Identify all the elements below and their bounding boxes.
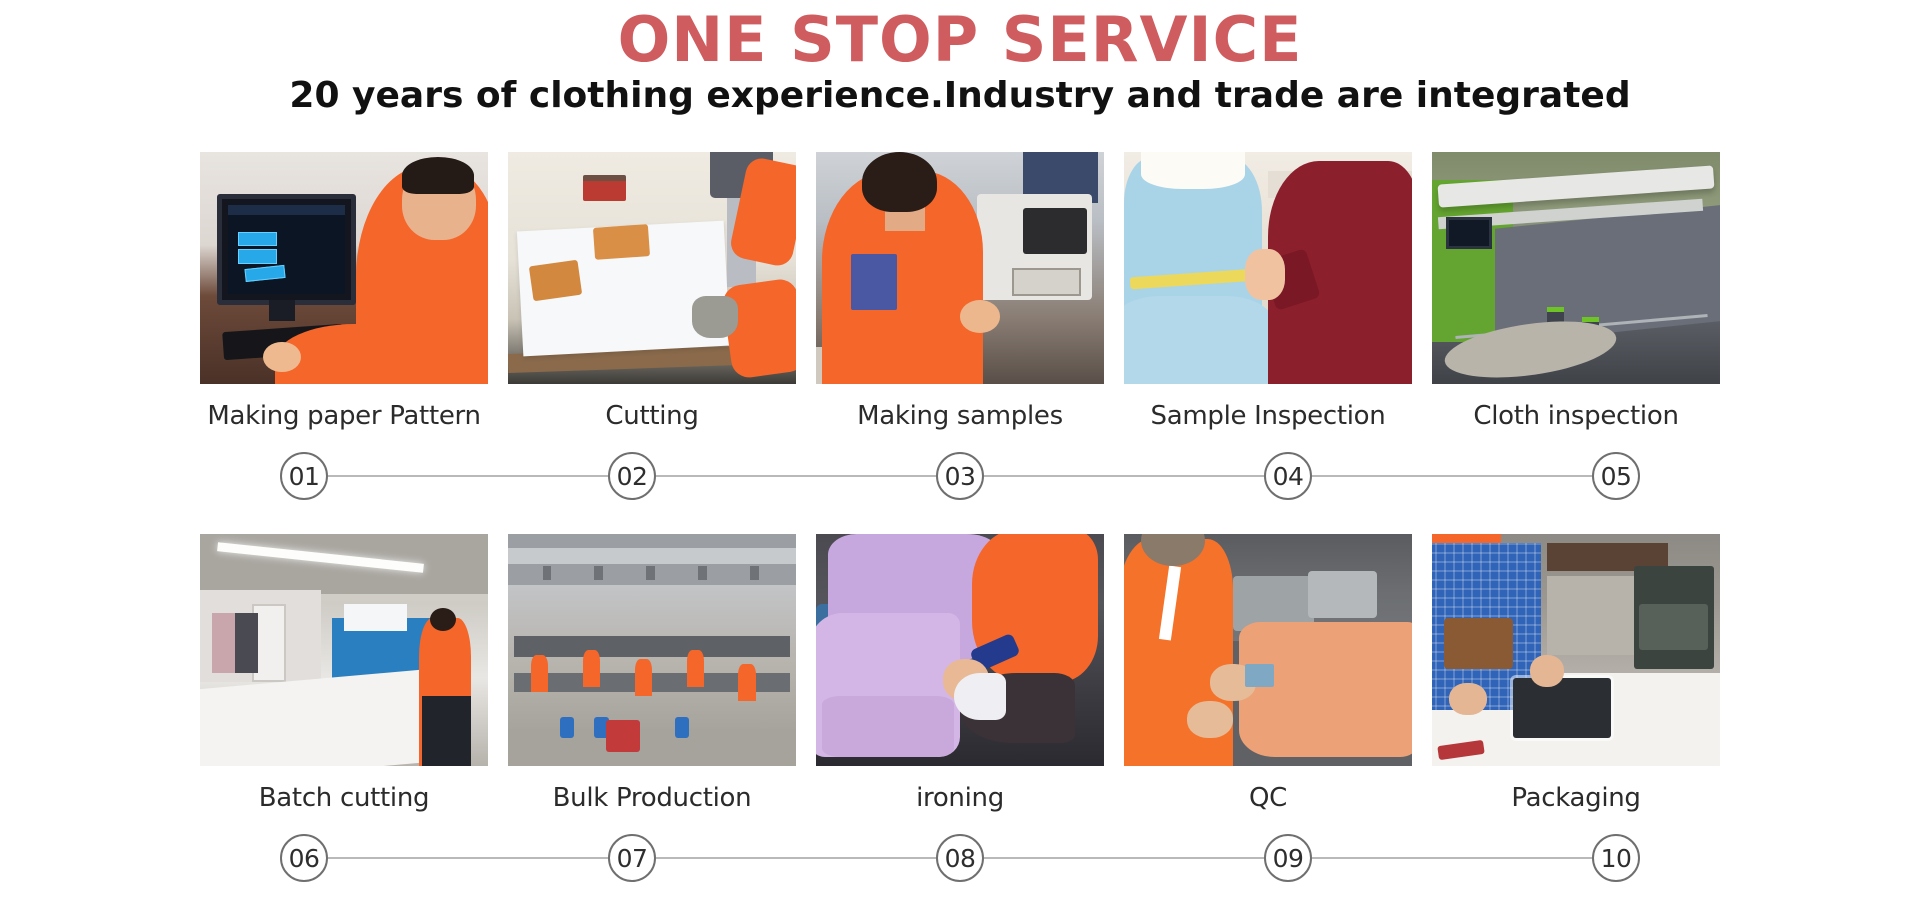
step-label-09: QC: [1124, 783, 1412, 813]
header: ONE STOP SERVICE 20 years of clothing ex…: [0, 0, 1920, 117]
step-tile-10[interactable]: Packaging: [1432, 534, 1720, 813]
making-paper-pattern-photo: [200, 152, 488, 384]
photo-row-1: Making paper Pattern Cutting: [200, 152, 1720, 431]
packaging-photo: [1432, 534, 1720, 766]
page-title: ONE STOP SERVICE: [0, 8, 1920, 71]
step-label-02: Cutting: [508, 401, 796, 431]
process-row-2: Batch cutting Bulk Production: [200, 534, 1720, 885]
step-tile-09[interactable]: QC: [1124, 534, 1412, 813]
timeline-node-06[interactable]: 06: [280, 834, 328, 882]
batch-cutting-photo: [200, 534, 488, 766]
timeline-node-03[interactable]: 03: [936, 452, 984, 500]
timeline-node-04[interactable]: 04: [1264, 452, 1312, 500]
one-stop-service-infographic: ONE STOP SERVICE 20 years of clothing ex…: [0, 0, 1920, 922]
timeline-node-05[interactable]: 05: [1592, 452, 1640, 500]
step-tile-01[interactable]: Making paper Pattern: [200, 152, 488, 431]
timeline-row-1: 01 02 03 04 05: [200, 449, 1720, 503]
step-tile-08[interactable]: ironing: [816, 534, 1104, 813]
cloth-inspection-photo: [1432, 152, 1720, 384]
step-label-06: Batch cutting: [200, 783, 488, 813]
step-label-05: Cloth inspection: [1432, 401, 1720, 431]
sample-inspection-photo: [1124, 152, 1412, 384]
timeline-node-01[interactable]: 01: [280, 452, 328, 500]
step-tile-06[interactable]: Batch cutting: [200, 534, 488, 813]
timeline-node-02[interactable]: 02: [608, 452, 656, 500]
cutting-photo: [508, 152, 796, 384]
step-label-01: Making paper Pattern: [200, 401, 488, 431]
timeline-node-09[interactable]: 09: [1264, 834, 1312, 882]
step-label-08: ironing: [816, 783, 1104, 813]
qc-photo: [1124, 534, 1412, 766]
ironing-photo: [816, 534, 1104, 766]
step-tile-02[interactable]: Cutting: [508, 152, 796, 431]
step-tile-04[interactable]: Sample Inspection: [1124, 152, 1412, 431]
step-label-03: Making samples: [816, 401, 1104, 431]
timeline-node-10[interactable]: 10: [1592, 834, 1640, 882]
timeline-row-2: 06 07 08 09 10: [200, 831, 1720, 885]
step-tile-07[interactable]: Bulk Production: [508, 534, 796, 813]
timeline-node-08[interactable]: 08: [936, 834, 984, 882]
step-label-07: Bulk Production: [508, 783, 796, 813]
step-label-10: Packaging: [1432, 783, 1720, 813]
step-label-04: Sample Inspection: [1124, 401, 1412, 431]
page-subtitle: 20 years of clothing experience.Industry…: [0, 75, 1920, 116]
photo-row-2: Batch cutting Bulk Production: [200, 534, 1720, 813]
process-row-1: Making paper Pattern Cutting: [200, 152, 1720, 503]
step-tile-03[interactable]: Making samples: [816, 152, 1104, 431]
step-tile-05[interactable]: Cloth inspection: [1432, 152, 1720, 431]
bulk-production-photo: [508, 534, 796, 766]
timeline-node-07[interactable]: 07: [608, 834, 656, 882]
making-samples-photo: [816, 152, 1104, 384]
